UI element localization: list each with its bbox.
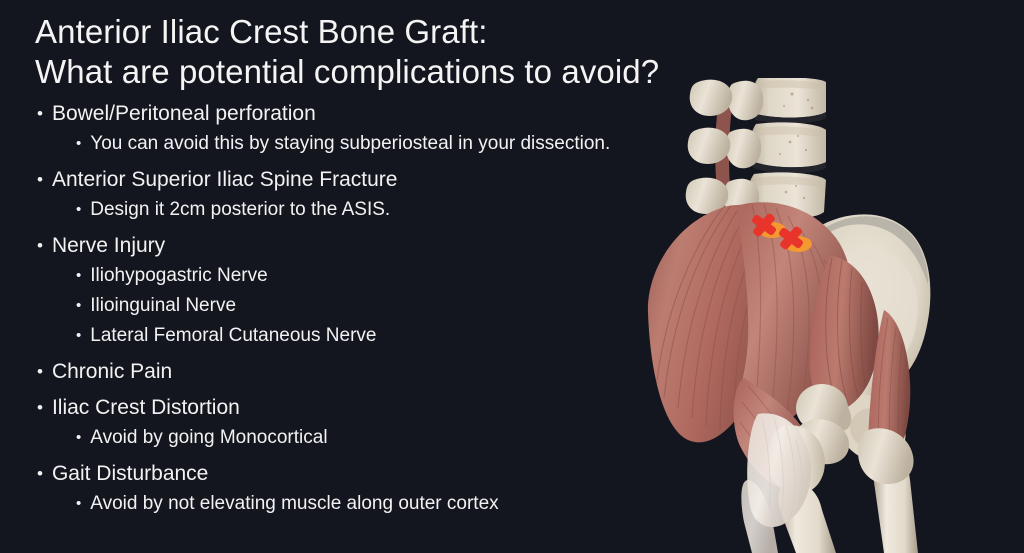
- bullet-dot-icon: •: [76, 323, 81, 349]
- list-item-label: You can avoid this by staying subperiost…: [90, 131, 668, 157]
- list-item-label: Avoid by not elevating muscle along oute…: [90, 491, 668, 517]
- bullet-dot-icon: •: [76, 197, 81, 223]
- list-item: • Anterior Superior Iliac Spine Fracture: [28, 166, 668, 193]
- bullet-dot-icon: •: [37, 232, 43, 259]
- complications-list: • Bowel/Peritoneal perforation • You can…: [28, 100, 668, 517]
- list-item: • Bowel/Peritoneal perforation: [28, 100, 668, 127]
- bullet-dot-icon: •: [76, 263, 81, 289]
- list-item-label: Anterior Superior Iliac Spine Fracture: [52, 166, 668, 193]
- list-item: • Nerve Injury: [28, 232, 668, 259]
- list-item-label: Design it 2cm posterior to the ASIS.: [90, 197, 668, 223]
- list-item: • Iliac Crest Distortion: [28, 394, 668, 421]
- list-item: • Chronic Pain: [28, 358, 668, 385]
- list-item-label: Chronic Pain: [52, 358, 668, 385]
- list-item: • Iliohypogastric Nerve: [28, 263, 668, 289]
- slide-canvas: Anterior Iliac Crest Bone Graft: What ar…: [0, 0, 1024, 553]
- bullet-dot-icon: •: [76, 131, 81, 157]
- vertebra-1-pedicle: [728, 81, 763, 121]
- bullet-dot-icon: •: [37, 358, 43, 385]
- list-item: • Gait Disturbance: [28, 460, 668, 487]
- list-item-label: Iliohypogastric Nerve: [90, 263, 668, 289]
- bullet-dot-icon: •: [76, 491, 81, 517]
- list-item-label: Nerve Injury: [52, 232, 668, 259]
- list-item-label: Avoid by going Monocortical: [90, 425, 668, 451]
- title-line-2: What are potential complications to avoi…: [35, 52, 725, 92]
- title-line-1: Anterior Iliac Crest Bone Graft:: [35, 12, 725, 52]
- list-item: • Design it 2cm posterior to the ASIS.: [28, 197, 668, 223]
- bullet-dot-icon: •: [76, 425, 81, 451]
- list-item: • Avoid by going Monocortical: [28, 425, 668, 451]
- list-item-label: Ilioinguinal Nerve: [90, 293, 668, 319]
- list-item: • Avoid by not elevating muscle along ou…: [28, 491, 668, 517]
- list-item: • Lateral Femoral Cutaneous Nerve: [28, 323, 668, 349]
- bullet-dot-icon: •: [76, 293, 81, 319]
- list-item: • You can avoid this by staying subperio…: [28, 131, 668, 157]
- bullet-dot-icon: •: [37, 100, 43, 127]
- bullet-dot-icon: •: [37, 394, 43, 421]
- page-title: Anterior Iliac Crest Bone Graft: What ar…: [35, 12, 725, 92]
- list-item-label: Gait Disturbance: [52, 460, 668, 487]
- bullet-dot-icon: •: [37, 460, 43, 487]
- list-item-label: Bowel/Peritoneal perforation: [52, 100, 668, 127]
- vertebra-2-pedicle: [726, 129, 761, 169]
- list-item-label: Iliac Crest Distortion: [52, 394, 668, 421]
- list-item-label: Lateral Femoral Cutaneous Nerve: [90, 323, 668, 349]
- bullet-dot-icon: •: [37, 166, 43, 193]
- list-item: • Ilioinguinal Nerve: [28, 293, 668, 319]
- pelvis-hip-anatomy-illustration: [640, 78, 1024, 553]
